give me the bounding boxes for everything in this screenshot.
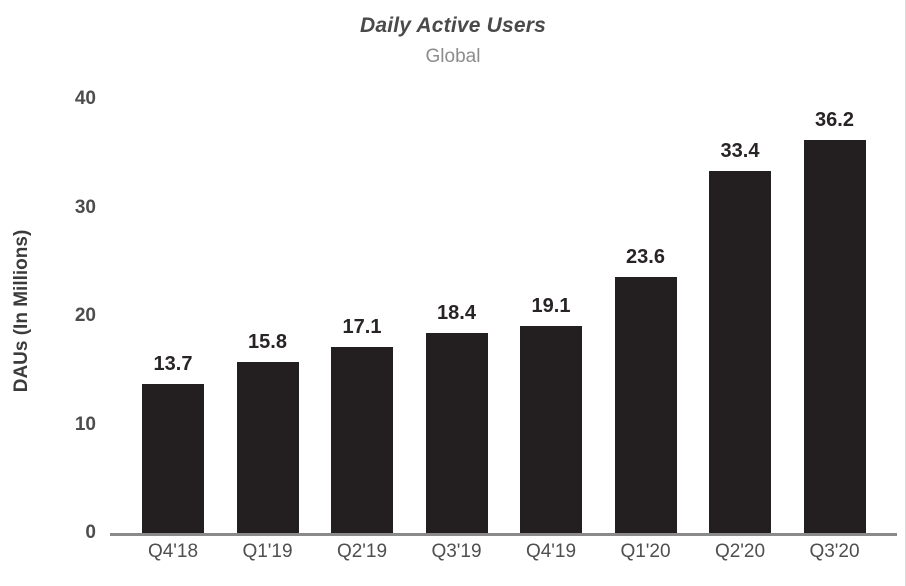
x-axis-line <box>110 533 897 536</box>
x-tick-label: Q4'18 <box>124 541 222 563</box>
bar-group[interactable]: 23.6 <box>615 277 677 533</box>
bar-group[interactable]: 18.4 <box>426 333 488 533</box>
y-tick-label: 0 <box>36 522 96 544</box>
bar[interactable] <box>520 326 582 533</box>
x-tick-label: Q1'19 <box>219 541 317 563</box>
bar-value-label: 15.8 <box>219 331 317 354</box>
bar[interactable] <box>709 171 771 533</box>
bar-value-label: 33.4 <box>691 140 789 163</box>
bar-value-label: 18.4 <box>408 302 506 325</box>
x-tick-label: Q1'20 <box>597 541 695 563</box>
chart-title: Daily Active Users <box>0 14 906 38</box>
bar-group[interactable]: 33.4 <box>709 171 771 533</box>
bar[interactable] <box>237 362 299 533</box>
plot-area: 13.715.817.118.419.123.633.436.2 <box>110 90 900 536</box>
chart-subtitle: Global <box>0 46 906 68</box>
x-tick-label: Q3'20 <box>786 541 884 563</box>
x-axis-tick-labels: Q4'18Q1'19Q2'19Q3'19Q4'19Q1'20Q2'20Q3'20 <box>110 541 900 571</box>
x-tick-label: Q3'19 <box>408 541 506 563</box>
bar[interactable] <box>615 277 677 533</box>
bar-group[interactable]: 19.1 <box>520 326 582 533</box>
bar-group[interactable]: 15.8 <box>237 362 299 533</box>
bar-value-label: 36.2 <box>786 109 884 132</box>
bar[interactable] <box>426 333 488 533</box>
bar-value-label: 19.1 <box>502 295 600 318</box>
chart-page: Daily Active Users Global DAUs (In Milli… <box>0 0 906 586</box>
x-tick-label: Q2'19 <box>313 541 411 563</box>
bar[interactable] <box>142 384 204 533</box>
bar-group[interactable]: 36.2 <box>804 140 866 533</box>
y-tick-label: 10 <box>36 414 96 436</box>
y-tick-label: 40 <box>36 88 96 110</box>
bar[interactable] <box>331 347 393 533</box>
bar-group[interactable]: 13.7 <box>142 384 204 533</box>
x-tick-label: Q2'20 <box>691 541 789 563</box>
bar[interactable] <box>804 140 866 533</box>
bar-value-label: 23.6 <box>597 246 695 269</box>
bar-value-label: 17.1 <box>313 316 411 339</box>
x-tick-label: Q4'19 <box>502 541 600 563</box>
y-axis-tick-labels: 010203040 <box>0 90 96 536</box>
bar-group[interactable]: 17.1 <box>331 347 393 533</box>
y-tick-label: 20 <box>36 305 96 327</box>
bar-value-label: 13.7 <box>124 353 222 376</box>
y-tick-label: 30 <box>36 197 96 219</box>
